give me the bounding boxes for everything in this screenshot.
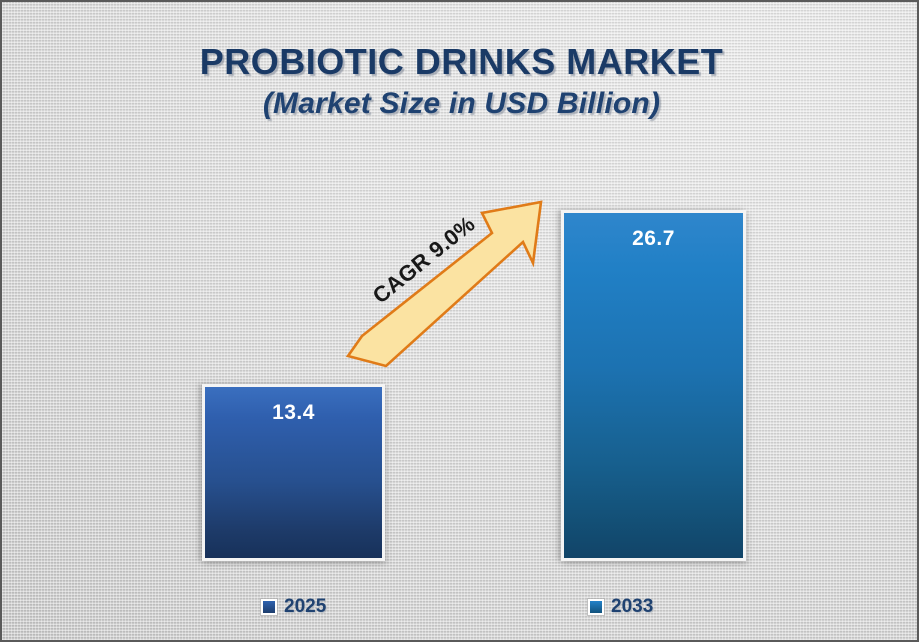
- legend-swatch-2033: [588, 599, 604, 615]
- legend-swatch-2025: [261, 599, 277, 615]
- chart-subtitle: (Market Size in USD Billion): [2, 89, 919, 119]
- bar-2033: 26.7: [561, 210, 746, 561]
- growth-arrow-icon: [340, 190, 550, 368]
- chart-title: PROBIOTIC DRINKS MARKET: [2, 44, 919, 80]
- legend-item-2025[interactable]: 2025: [261, 596, 326, 618]
- legend-label-2025: 2025: [284, 596, 326, 618]
- legend-item-2033[interactable]: 2033: [588, 596, 653, 618]
- cagr-growth-arrow: CAGR 9.0%: [340, 190, 550, 368]
- bar-2033-value-label: 26.7: [564, 227, 743, 251]
- bar-2025: 13.4: [202, 384, 385, 561]
- legend-label-2033: 2033: [611, 596, 653, 618]
- bar-2025-value-label: 13.4: [205, 401, 382, 425]
- chart-title-block: PROBIOTIC DRINKS MARKET (Market Size in …: [2, 44, 919, 119]
- chart-slide: PROBIOTIC DRINKS MARKET (Market Size in …: [0, 0, 919, 642]
